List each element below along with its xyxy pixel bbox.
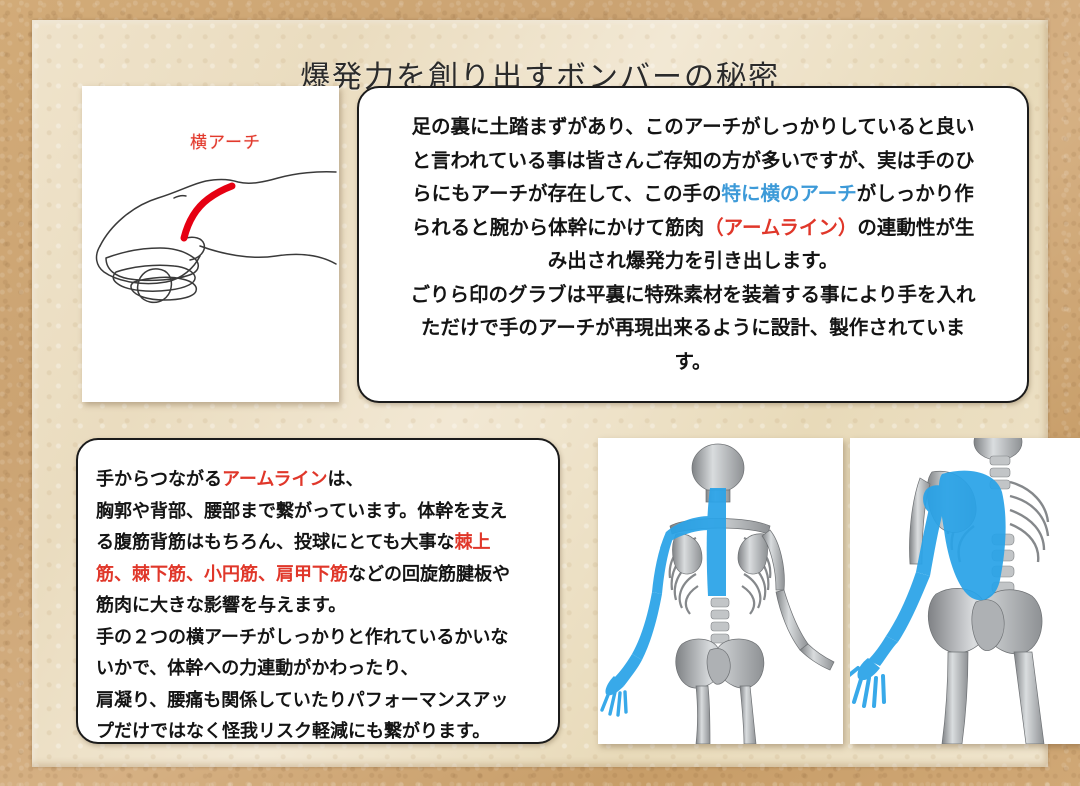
text-run: 手の２つの横アーチがしっかりと作れているかいな xyxy=(96,627,508,648)
text-run: などの回旋筋腱板や xyxy=(348,564,510,585)
text-run: と言われている事は皆さんご存知の方が多いですが、実は手のひ xyxy=(412,149,975,172)
paper-sheet: 爆発力を創り出すボンバーの秘密 xyxy=(32,20,1048,767)
skeleton-back-full-svg xyxy=(598,438,843,744)
text-run: ごりら印のグラブは平裏に特殊素材を装着する事により手を入れ xyxy=(410,283,975,306)
text-run: 筋、棘下筋、小円筋、肩甲下筋 xyxy=(96,564,348,585)
text-run: 手からつながる xyxy=(96,469,222,490)
skeleton-back-closeup-card xyxy=(850,438,1080,744)
text-run: の連動性が生 xyxy=(857,216,974,239)
text-run: 胸郭や背部、腰部まで繋がっています。体幹を支え xyxy=(96,501,507,522)
text-run: 特に横のアーチ xyxy=(721,182,856,205)
top-description-box: 足の裏に土踏まずがあり、このアーチがしっかりしていると良いと言われている事は皆さ… xyxy=(357,86,1029,403)
top-description-text: 足の裏に土踏まずがあり、このアーチがしっかりしていると良いと言われている事は皆さ… xyxy=(379,110,1007,378)
text-run: プだけではなく怪我リスク軽減にも繋がります。 xyxy=(96,721,490,742)
text-run: 肩凝り、腰痛も関係していたりパフォーマンスアッ xyxy=(96,690,508,711)
text-run: （アームライン） xyxy=(704,216,857,239)
text-run: アームライン xyxy=(222,469,327,490)
hand-arch-illustration-card: 横アーチ xyxy=(82,86,339,402)
text-run: 足の裏に土踏まずがあり、このアーチがしっかりしていると良い xyxy=(412,115,975,138)
poster-background: 爆発力を創り出すボンバーの秘密 xyxy=(0,0,1080,786)
text-run: らにもアーチが存在して、この手の xyxy=(412,182,721,205)
bottom-description-text: 手からつながるアームラインは、胸郭や背部、腰部まで繋がっています。体幹を支える腹… xyxy=(96,464,542,748)
transverse-arch-arc xyxy=(184,186,232,238)
text-run: がしっかり作 xyxy=(857,182,974,205)
skeleton-back-closeup-svg xyxy=(850,438,1080,744)
text-run: は、 xyxy=(327,469,363,490)
text-run: る腹筋背筋はもちろん、投球にとても大事な xyxy=(96,532,455,553)
text-run: いかで、体幹への力連動がかわったり、 xyxy=(96,658,419,679)
text-run: す。 xyxy=(674,350,711,373)
text-run: 筋肉に大きな影響を与えます。 xyxy=(96,595,346,616)
skeleton-back-full-card xyxy=(598,438,843,744)
text-run: み出され爆発力を引き出します。 xyxy=(548,249,839,272)
bottom-description-box: 手からつながるアームラインは、胸郭や背部、腰部まで繋がっています。体幹を支える腹… xyxy=(76,438,560,744)
text-run: ただけで手のアーチが再現出来るように設計、製作されていま xyxy=(421,316,965,339)
text-run: られると腕から体幹にかけて筋肉 xyxy=(412,216,705,239)
transverse-arch-label: 横アーチ xyxy=(190,128,261,153)
text-run: 棘上 xyxy=(455,532,491,553)
